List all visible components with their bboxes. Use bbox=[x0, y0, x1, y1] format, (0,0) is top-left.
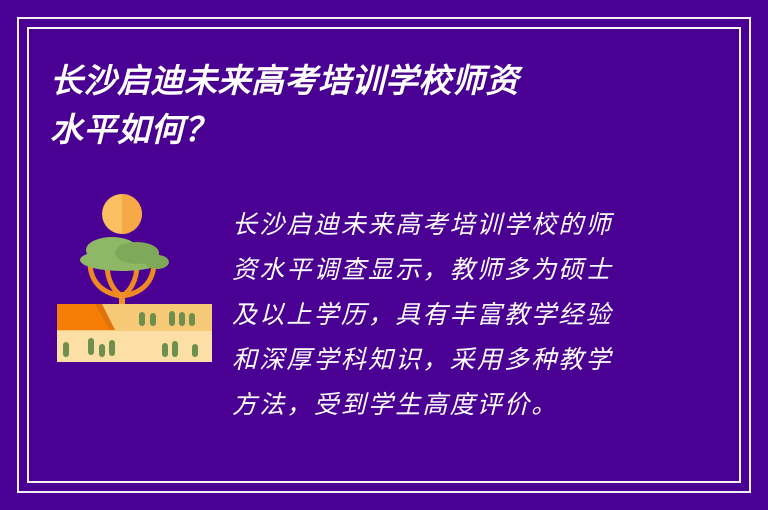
body-line-5: 方法，受到学生高度评价。 bbox=[232, 382, 652, 427]
title-line-1: 长沙启迪未来高考培训学校师资 bbox=[50, 56, 650, 105]
title-line-2: 水平如何？ bbox=[50, 105, 650, 154]
sand-foreground bbox=[57, 331, 212, 362]
sun-icon bbox=[102, 194, 142, 234]
page-title: 长沙启迪未来高考培训学校师资 水平如何？ bbox=[50, 56, 650, 154]
body-line-1: 长沙启迪未来高考培训学校的师 bbox=[232, 202, 652, 247]
article-body: 长沙启迪未来高考培训学校的师 资水平调查显示，教师多为硕士 及以上学历，具有丰富… bbox=[232, 202, 652, 427]
article-card: 长沙启迪未来高考培训学校师资 水平如何？ bbox=[0, 0, 768, 510]
body-line-4: 和深厚学科知识，采用多种教学 bbox=[232, 337, 652, 382]
tree-canopy-icon bbox=[80, 237, 169, 271]
desert-landscape-illustration bbox=[57, 192, 212, 362]
body-line-2: 资水平调查显示，教师多为硕士 bbox=[232, 247, 652, 292]
body-line-3: 及以上学历，具有丰富教学经验 bbox=[232, 292, 652, 337]
